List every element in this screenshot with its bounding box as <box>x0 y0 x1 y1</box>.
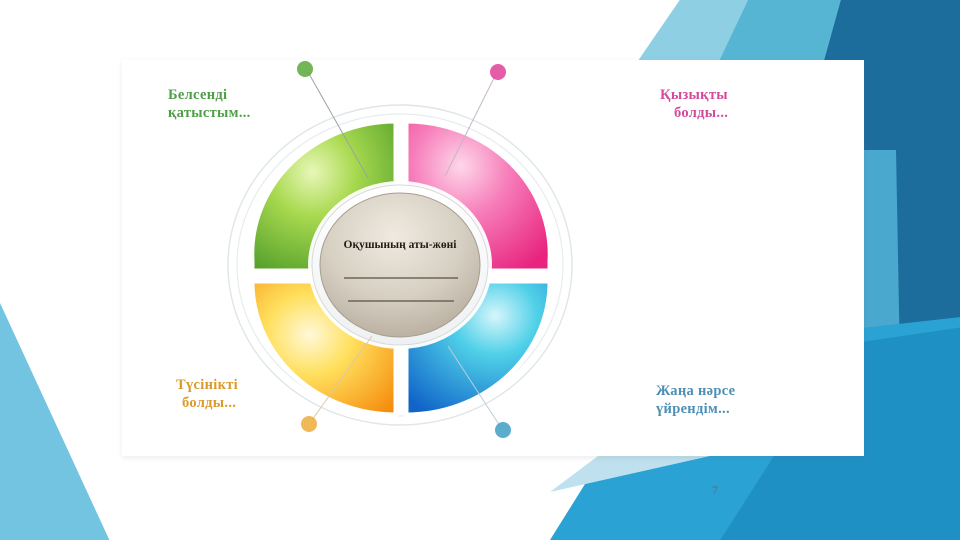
label-top-left-line2: қатыстым... <box>168 104 251 122</box>
label-top-right: Қызықты болды... <box>660 86 728 122</box>
leader-dot-orange <box>301 416 317 432</box>
label-bottom-right: Жаңа нәрсе үйрендім... <box>656 382 735 418</box>
leader-dot-pink <box>490 64 506 80</box>
label-bottom-right-line1: Жаңа нәрсе <box>656 382 735 400</box>
label-top-left: Белсенді қатыстым... <box>168 86 251 122</box>
reflection-wheel-diagram: Оқушының аты-жөні <box>200 60 600 460</box>
label-bottom-right-line2: үйрендім... <box>656 400 735 418</box>
label-top-right-line1: Қызықты <box>660 86 728 104</box>
label-bottom-left-line2: болды... <box>176 394 238 412</box>
label-top-left-line1: Белсенді <box>168 86 251 104</box>
center-title: Оқушының аты-жөні <box>344 239 458 251</box>
label-top-right-line2: болды... <box>660 104 728 122</box>
page-number: 7 <box>712 483 718 498</box>
label-bottom-left: Түсінікті болды... <box>176 376 238 412</box>
leader-dot-green <box>297 61 313 77</box>
decor-shape-bottom-left <box>0 290 114 540</box>
center-oval <box>320 193 480 337</box>
label-bottom-left-line1: Түсінікті <box>176 376 238 394</box>
leader-dot-blue <box>495 422 511 438</box>
